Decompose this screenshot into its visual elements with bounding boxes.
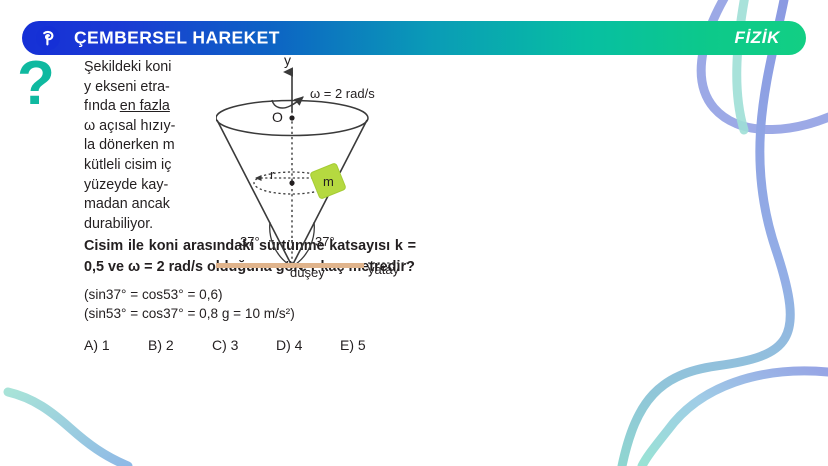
answer-option-d[interactable]: D) 4 [276,337,340,353]
radius-center-point [289,180,294,185]
pi-logo-icon [36,26,60,50]
answer-option-b[interactable]: B) 2 [148,337,212,353]
subject-badge: FİZİK [735,28,781,48]
question-intro-line: durabiliyor. [84,215,206,235]
origin-label: O [272,109,283,125]
question-intro-line: Şekildeki koni [84,58,206,78]
question-intro-line: ω açısal hızıy- [84,117,206,137]
header-bar: ÇEMBERSEL HAREKET FİZİK [22,21,806,55]
page-title: ÇEMBERSEL HAREKET [74,28,280,49]
question-intro-line: la dönerken m [84,136,206,156]
vertical-label: düşey [290,265,325,280]
answer-option-e[interactable]: E) 5 [340,337,404,353]
rotation-arrow-icon [272,97,303,108]
decor-arc-purple [701,0,828,130]
question-intro-line: y ekseni etra- [84,78,206,98]
angle-label-right: 37° [315,234,335,249]
radius-label: r [270,167,274,182]
decor-curve-teal-bottom [642,371,828,466]
question-intro-line: madan ancak [84,195,206,215]
question-intro-line: yüzeyde kay- [84,176,206,196]
given-line: (sin53° = cos37° = 0,8 g = 10 m/s²) [84,304,416,323]
decor-arc-teal-top [737,0,748,130]
decor-curve-bottom-left [8,392,128,466]
question-intro: Şekildeki koni y ekseni etra- fında en f… [84,58,206,234]
question-intro-line: kütleli cisim iç [84,156,206,176]
horizontal-label: yatay [368,262,399,277]
answer-option-c[interactable]: C) 3 [212,337,276,353]
question-intro-line: fında en fazla [84,97,206,117]
given-values: (sin37° = cos53° = 0,6) (sin53° = cos37°… [84,285,424,323]
given-line: (sin37° = cos53° = 0,6) [84,285,416,304]
answer-options: A) 1 B) 2 C) 3 D) 4 E) 5 [84,337,416,353]
question-mark-icon: ? [17,57,61,115]
answer-option-a[interactable]: A) 1 [84,337,148,353]
intro-underlined-line: fında en fazla [84,98,170,114]
physics-diagram: y ω = 2 rad/s O r m 37° 37° düşey yatay [216,54,428,276]
mass-label: m [323,174,334,189]
decor-s-curve-right [622,0,790,466]
angle-label-left: 37° [240,234,260,249]
omega-label: ω = 2 rad/s [310,86,375,101]
center-point-O [289,115,294,120]
